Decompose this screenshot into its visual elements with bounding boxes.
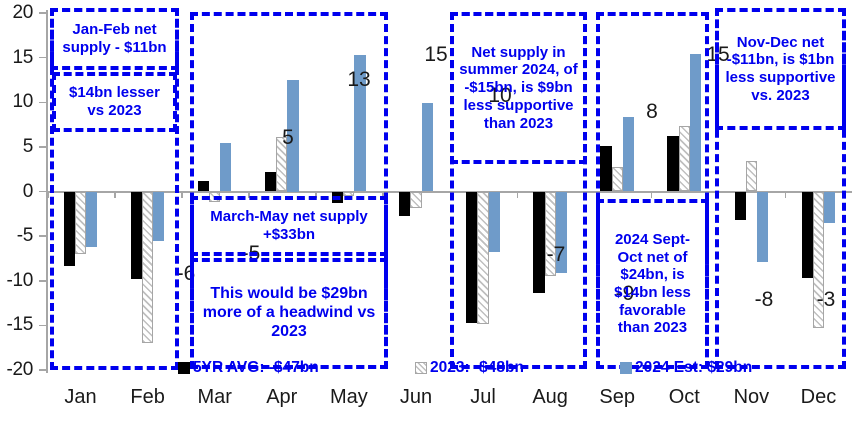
x-label-oct: Oct — [669, 386, 700, 409]
y-tick-label: 0 — [23, 181, 33, 203]
x-label-jun: Jun — [400, 386, 432, 409]
y-tick — [39, 146, 47, 148]
net-supply-bar-chart: 20151050-5-10-15-20 -6-55131510-7-9815-8… — [0, 0, 852, 424]
x-label-aug: Aug — [532, 386, 568, 409]
annotation-march-may-net: March-May net supply +$33bn — [190, 196, 388, 256]
x-label-dec: Dec — [801, 386, 837, 409]
x-label-jan: Jan — [64, 386, 96, 409]
legend-label: 2023: -$48bn — [430, 359, 524, 377]
y-tick — [39, 369, 47, 371]
annotation-sept-oct-net: 2024 Sept-Oct net of $24bn, is $14bn les… — [596, 199, 709, 369]
y-tick-label: 15 — [12, 47, 33, 69]
y-tick-label: 10 — [12, 91, 33, 113]
y-tick — [39, 102, 47, 104]
bar-value-label-may: 15 — [424, 43, 447, 67]
y-tick-label: -20 — [6, 359, 33, 381]
annotation-text: 2024 Sept-Oct net of $24bn, is $14bn les… — [600, 231, 705, 337]
x-tick — [47, 191, 49, 198]
bar-jun-2023 — [410, 192, 421, 208]
bar-jun-5yr-avg — [399, 192, 410, 216]
y-tick-label: 5 — [23, 136, 33, 158]
annotation-jan-feb-outer — [50, 8, 179, 370]
y-tick — [39, 191, 47, 193]
y-tick — [39, 57, 47, 59]
annotation-text: Net supply in summer 2024, of -$15bn, is… — [454, 44, 583, 132]
annotation-nov-dec-net: Nov-Dec net -$11bn, is $1bn less support… — [715, 8, 846, 130]
y-tick-label: -5 — [17, 225, 33, 247]
y-tick-label: -15 — [6, 314, 33, 336]
annotation-march-may-headwind: This would be $29bn more of a headwind v… — [190, 258, 388, 369]
y-tick — [39, 280, 47, 282]
legend-swatch-icon — [415, 362, 427, 374]
chart-legend: 5YR AVG: -$47bn2023: -$48bn2024 Est: $29… — [47, 357, 852, 381]
legend-label: 5YR AVG: -$47bn — [193, 359, 319, 377]
y-tick — [39, 235, 47, 237]
y-tick-label: 20 — [12, 2, 33, 24]
x-label-mar: Mar — [197, 386, 231, 409]
legend-swatch-icon — [178, 362, 190, 374]
x-label-nov: Nov — [734, 386, 770, 409]
annotation-text: This would be $29bn more of a headwind v… — [194, 285, 384, 342]
annotation-text: Nov-Dec net -$11bn, is $1bn less support… — [719, 34, 842, 105]
legend-label: 2024 Est: $29bn — [635, 359, 752, 377]
y-tick-label: -10 — [6, 270, 33, 292]
legend-item-0[interactable]: 5YR AVG: -$47bn — [178, 359, 319, 377]
y-tick — [39, 12, 47, 14]
annotation-summer-net: Net supply in summer 2024, of -$15bn, is… — [450, 12, 587, 164]
x-label-sep: Sep — [599, 386, 635, 409]
y-tick — [39, 325, 47, 327]
x-label-apr: Apr — [266, 386, 297, 409]
x-label-may: May — [330, 386, 368, 409]
x-label-feb: Feb — [130, 386, 164, 409]
bar-jun-2024-est — [422, 103, 433, 191]
legend-item-2[interactable]: 2024 Est: $29bn — [620, 359, 752, 377]
x-tick — [181, 191, 183, 198]
legend-item-1[interactable]: 2023: -$48bn — [415, 359, 524, 377]
x-label-jul: Jul — [470, 386, 496, 409]
annotation-text: March-May net supply +$33bn — [194, 208, 384, 243]
legend-swatch-icon — [620, 362, 632, 374]
